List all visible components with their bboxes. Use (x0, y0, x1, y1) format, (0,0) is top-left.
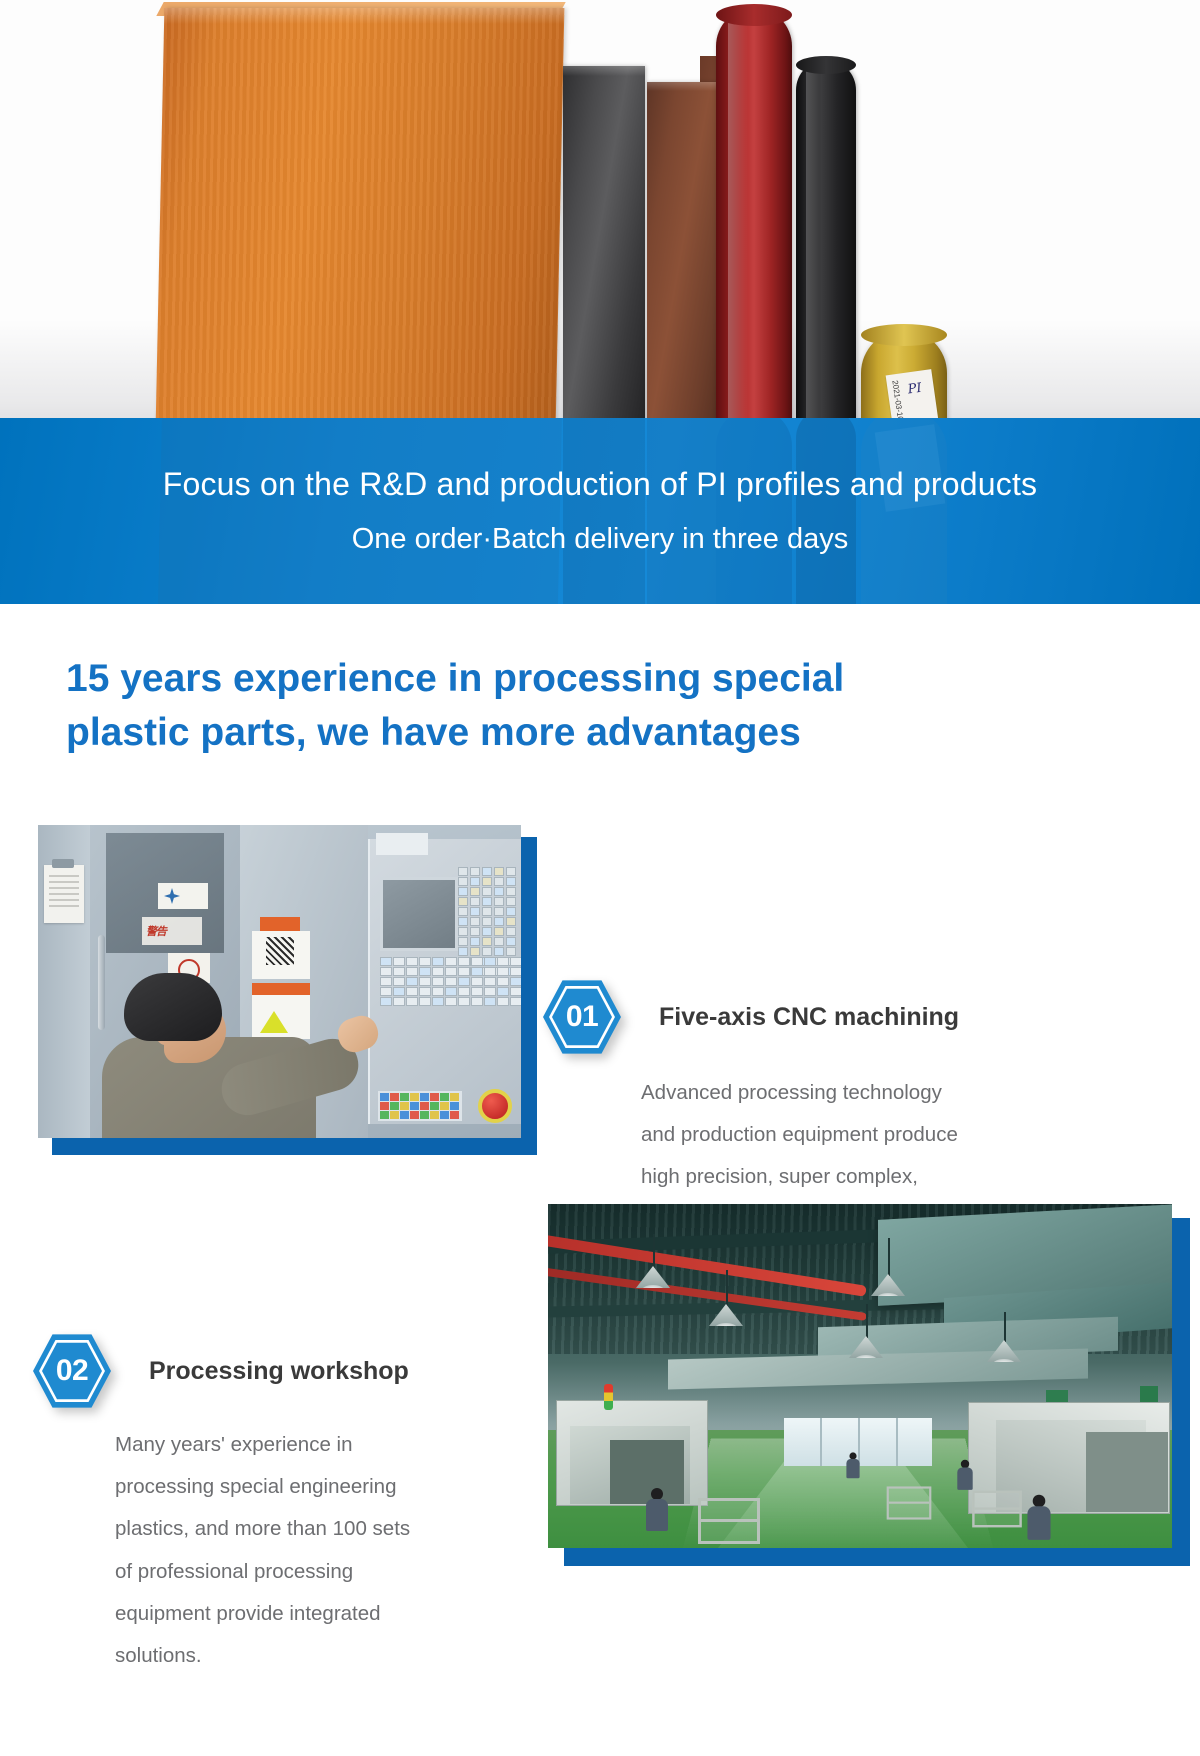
worker-figure (644, 1488, 670, 1540)
feature-01-badge: 01 (543, 978, 621, 1056)
gold-rod-top-cap (861, 324, 947, 346)
red-rod-top-cap (716, 4, 792, 26)
workshop-scene (548, 1204, 1172, 1548)
tagline-banner: Focus on the R&D and production of PI pr… (0, 418, 1200, 604)
rod-label-signature: PI (907, 381, 923, 398)
feature-02-body-line: processing special engineering (115, 1466, 543, 1508)
feature-02-header: 02 Processing workshop (33, 1332, 543, 1410)
section-heading-line-1: 15 years experience in processing specia… (66, 652, 1076, 706)
feature-02-badge: 02 (33, 1332, 111, 1410)
rod-label-date: 2021-03-10 (890, 380, 905, 422)
hero-stage: 2021-03-10 PI (0, 0, 1200, 440)
feature-02-body: Many years' experience in processing spe… (33, 1424, 543, 1677)
feature-02-photo-image (548, 1204, 1172, 1548)
section-heading-line-2: plastic parts, we have more advantages (66, 706, 1076, 760)
cnc-machine-scene: 警告 (38, 825, 521, 1138)
feature-01-photo: 警告 (38, 825, 528, 1147)
feature-01-header: 01 Five-axis CNC machining (543, 978, 1078, 1056)
feature-02-body-line: of professional processing (115, 1551, 543, 1593)
material-trolley (887, 1486, 932, 1519)
worker-figure (845, 1452, 861, 1483)
dark-grey-bar (563, 66, 645, 428)
feature-02-photo (548, 1204, 1178, 1556)
black-rod (796, 60, 856, 435)
material-trolley (698, 1498, 760, 1544)
feature-02-body-line: plastics, and more than 100 sets (115, 1508, 543, 1550)
cnc-keypad-lower (380, 957, 520, 1009)
feature-02-body-line: solutions. (115, 1635, 543, 1677)
black-rod-top-cap (796, 56, 856, 74)
red-rod (716, 8, 792, 433)
cnc-screen (380, 877, 458, 951)
material-trolley (972, 1491, 1022, 1528)
feature-01-number: 01 (543, 978, 621, 1056)
banner-text-group: Focus on the R&D and production of PI pr… (0, 418, 1200, 604)
feature-01-photo-image: 警告 (38, 825, 521, 1138)
hero-product-photo: 2021-03-10 PI (0, 0, 1200, 440)
feature-02-text: 02 Processing workshop Many years' exper… (33, 1332, 543, 1677)
worker-figure (1025, 1495, 1052, 1548)
feature-01-body-line: high precision, super complex, (641, 1156, 1078, 1198)
feature-02-body-line: Many years' experience in (115, 1424, 543, 1466)
banner-headline-primary: Focus on the R&D and production of PI pr… (163, 463, 1038, 506)
banner-headline-secondary: One order·Batch delivery in three days (352, 520, 848, 559)
operator-figure (102, 973, 342, 1138)
emergency-stop-button (478, 1089, 512, 1123)
feature-02-body-line: equipment provide integrated (115, 1593, 543, 1635)
feature-01-body-line: Advanced processing technology (641, 1072, 1078, 1114)
section-heading: 15 years experience in processing specia… (66, 652, 1076, 760)
feature-01-title: Five-axis CNC machining (659, 1003, 959, 1032)
orange-phenolic-sheet (156, 8, 565, 428)
feature-02-title: Processing workshop (149, 1357, 409, 1386)
signal-tower-light (604, 1384, 613, 1410)
product-detail-page: 2021-03-10 PI Focus on the R&D and produ… (0, 0, 1200, 1756)
feature-02-number: 02 (33, 1332, 111, 1410)
cnc-control-panel (368, 839, 521, 1124)
clipboard-icon (44, 865, 84, 923)
feature-01-body-line: and production equipment produce (641, 1114, 1078, 1156)
